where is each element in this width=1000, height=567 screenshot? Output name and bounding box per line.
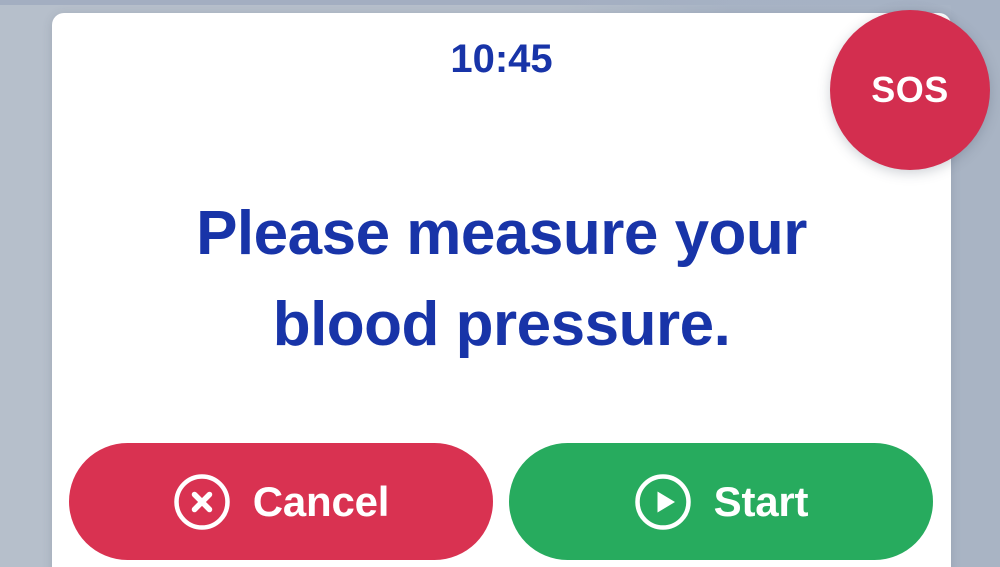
screen-top-band [0, 0, 1000, 5]
status-bar-clock: 10:45 [52, 37, 951, 82]
app-screen: 10:45 Please measure your blood pressure… [0, 0, 1000, 567]
start-button[interactable]: Start [509, 443, 933, 560]
start-button-label: Start [714, 478, 809, 526]
sos-button[interactable]: SOS [830, 10, 990, 170]
prompt-card: 10:45 Please measure your blood pressure… [52, 13, 951, 567]
action-button-bar: Cancel Start [69, 443, 949, 567]
sos-button-label: SOS [871, 69, 949, 111]
circle-play-icon [634, 473, 692, 531]
page-title: Please measure your blood pressure. [112, 188, 891, 370]
headline-line-2: blood pressure. [273, 290, 731, 359]
cancel-button-label: Cancel [253, 478, 390, 526]
headline-line-1: Please measure your [196, 199, 807, 268]
circle-x-icon [173, 473, 231, 531]
cancel-button[interactable]: Cancel [69, 443, 493, 560]
